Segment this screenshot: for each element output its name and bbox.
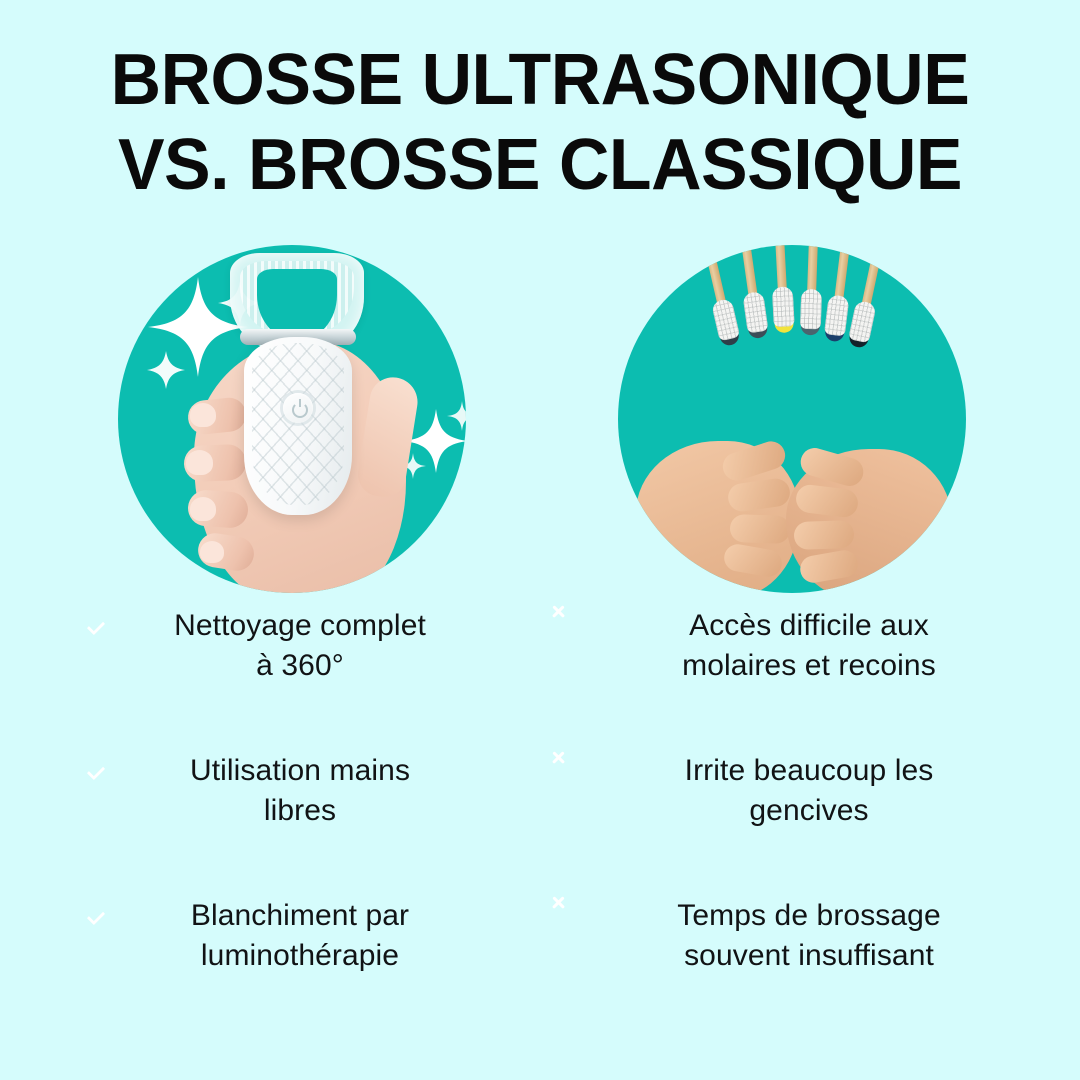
check-circle-icon — [78, 612, 112, 646]
list-item: Accès difficile auxmolaires et recoins — [558, 606, 1020, 685]
list-item: Temps de brossagesouvent insuffisant — [558, 896, 1020, 975]
cross-circle-icon — [558, 902, 592, 936]
feature-label: Accès difficile auxmolaires et recoins — [592, 606, 1020, 685]
list-item: Blanchiment parluminothérapie — [78, 896, 482, 975]
feature-label: Irrite beaucoup lesgencives — [592, 751, 1020, 830]
list-item: Utilisation mainslibres — [78, 751, 482, 830]
page-title: BROSSE ULTRASONIQUE VS. BROSSE CLASSIQUE — [0, 38, 1080, 208]
left-hand — [636, 441, 800, 593]
power-button-icon — [283, 393, 313, 423]
product-comparison-images — [0, 245, 1080, 595]
cons-column: Accès difficile auxmolaires et recoins I… — [540, 606, 1080, 976]
list-item: Irrite beaucoup lesgencives — [558, 751, 1020, 830]
infographic-page: { "theme": { "background": "#d5fcfc", "c… — [0, 0, 1080, 1080]
cross-circle-icon — [558, 757, 592, 791]
feature-comparison-lists: Nettoyage completà 360° Utilisation main… — [0, 606, 1080, 976]
check-circle-icon — [78, 757, 112, 791]
title-line-2: VS. BROSSE CLASSIQUE — [16, 123, 1064, 208]
cross-circle-icon — [558, 612, 592, 646]
feature-label: Temps de brossagesouvent insuffisant — [592, 896, 1020, 975]
pros-column: Nettoyage completà 360° Utilisation main… — [0, 606, 540, 976]
feature-label: Nettoyage completà 360° — [112, 606, 482, 685]
device-handle — [244, 337, 352, 515]
bamboo-toothbrushes-photo — [618, 245, 966, 593]
right-hand — [786, 449, 952, 593]
feature-label: Utilisation mainslibres — [112, 751, 482, 830]
title-line-1: BROSSE ULTRASONIQUE — [16, 38, 1064, 123]
list-item: Nettoyage completà 360° — [78, 606, 482, 685]
check-circle-icon — [78, 902, 112, 936]
feature-label: Blanchiment parluminothérapie — [112, 896, 482, 975]
ultrasonic-toothbrush-photo — [118, 245, 466, 593]
